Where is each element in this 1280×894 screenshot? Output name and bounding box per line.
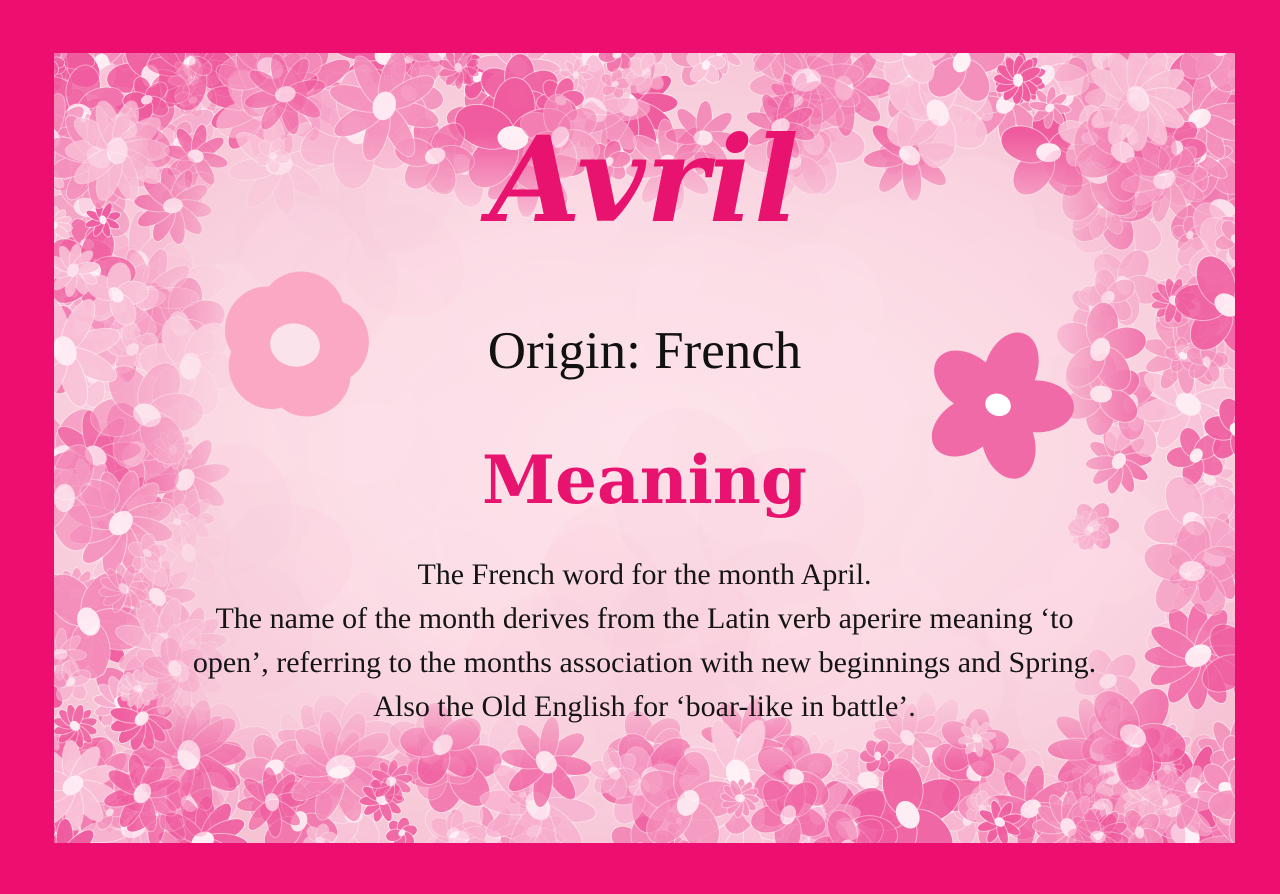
meaning-line: Also the Old English for ‘boar-like in b…: [144, 685, 1145, 729]
card-content: Avril Origin: French Meaning The French …: [54, 53, 1235, 843]
meaning-line: open’, referring to the months associati…: [144, 641, 1145, 685]
origin-line: Origin: French: [54, 325, 1235, 378]
card-frame: Avril Origin: French Meaning The French …: [0, 0, 1280, 894]
page-title: Avril: [54, 121, 1235, 239]
meaning-line: The name of the month derives from the L…: [144, 597, 1145, 641]
meaning-body: The French word for the month April. The…: [144, 553, 1145, 729]
meaning-line: The French word for the month April.: [144, 553, 1145, 597]
meaning-heading: Meaning: [54, 447, 1235, 513]
floral-card: Avril Origin: French Meaning The French …: [54, 53, 1235, 843]
